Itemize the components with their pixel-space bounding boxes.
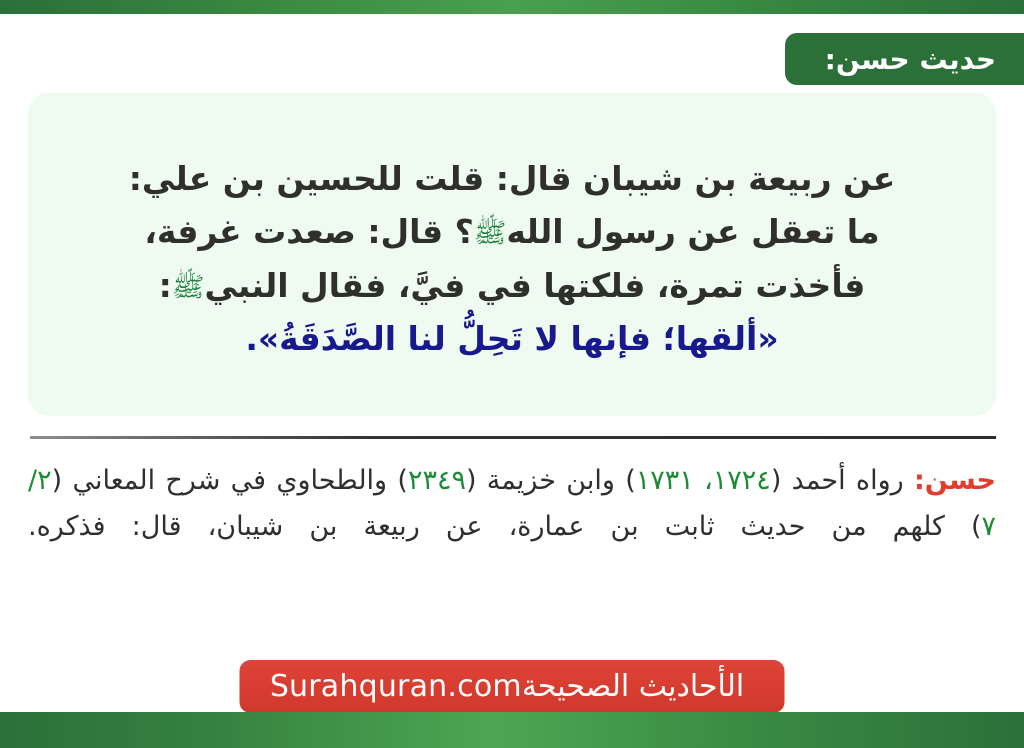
hadith-line-2-text-after: ؟ قال: صعدت غرفة، — [144, 212, 473, 251]
hadith-line-3: فأخذت تمرة، فلكتها في فيَّ، فقال النبيﷺ: — [58, 259, 966, 312]
salawat-symbol-icon: ﷺ — [172, 271, 205, 302]
takhreej-part-2: ) وابن خزيمة ( — [466, 465, 636, 496]
takhreej-part-4: ) كلهم من حديث ثابت بن عمارة، عن ربيعة ب… — [28, 511, 981, 542]
takhreej-part-1: رواه أحمد ( — [771, 465, 914, 496]
badge-row: حديث حسن: — [0, 33, 1024, 85]
footer-tagline: الأحاديث الصحيحة — [522, 669, 744, 704]
top-decorative-bar — [0, 0, 1024, 14]
bottom-decorative-bar — [0, 712, 1024, 748]
salawat-symbol-icon: ﷺ — [474, 218, 507, 249]
takhreej-paragraph: حسن: رواه أحمد (١٧٢٤، ١٧٣١) وابن خزيمة (… — [28, 458, 996, 551]
hadith-line-3-text-after: : — [159, 266, 172, 305]
hadith-card: حديث حسن: عن ربيعة بن شيبان قال: قلت للح… — [0, 0, 1024, 748]
hadith-text-box: عن ربيعة بن شيبان قال: قلت للحسين بن علي… — [28, 93, 996, 416]
hadith-line-3-text-before: فأخذت تمرة، فلكتها في فيَّ، فقال النبي — [204, 266, 865, 305]
hadith-prophetic-speech-line: «ألقها؛ فإنها لا تَحِلُّ لنا الصَّدَقَةُ… — [58, 312, 966, 365]
hadith-line-1: عن ربيعة بن شيبان قال: قلت للحسين بن علي… — [58, 152, 966, 205]
takhreej-grade-label: حسن: — [914, 465, 996, 496]
hadith-grade-badge: حديث حسن: — [785, 33, 1024, 85]
takhreej-reference-1: ١٧٢٤، ١٧٣١ — [636, 465, 771, 496]
site-footer-banner[interactable]: الأحاديث الصحيحةSurahquran.com — [240, 660, 785, 713]
takhreej-reference-2: ٢٣٤٩ — [408, 465, 466, 496]
hadith-line-2: ما تعقل عن رسول اللهﷺ؟ قال: صعدت غرفة، — [58, 205, 966, 258]
takhreej-part-3: ) والطحاوي في شرح المعاني ( — [52, 465, 408, 496]
footer-site-name: Surahquran.com — [270, 669, 522, 704]
hadith-line-2-text-before: ما تعقل عن رسول الله — [506, 212, 879, 251]
section-divider — [30, 436, 996, 439]
